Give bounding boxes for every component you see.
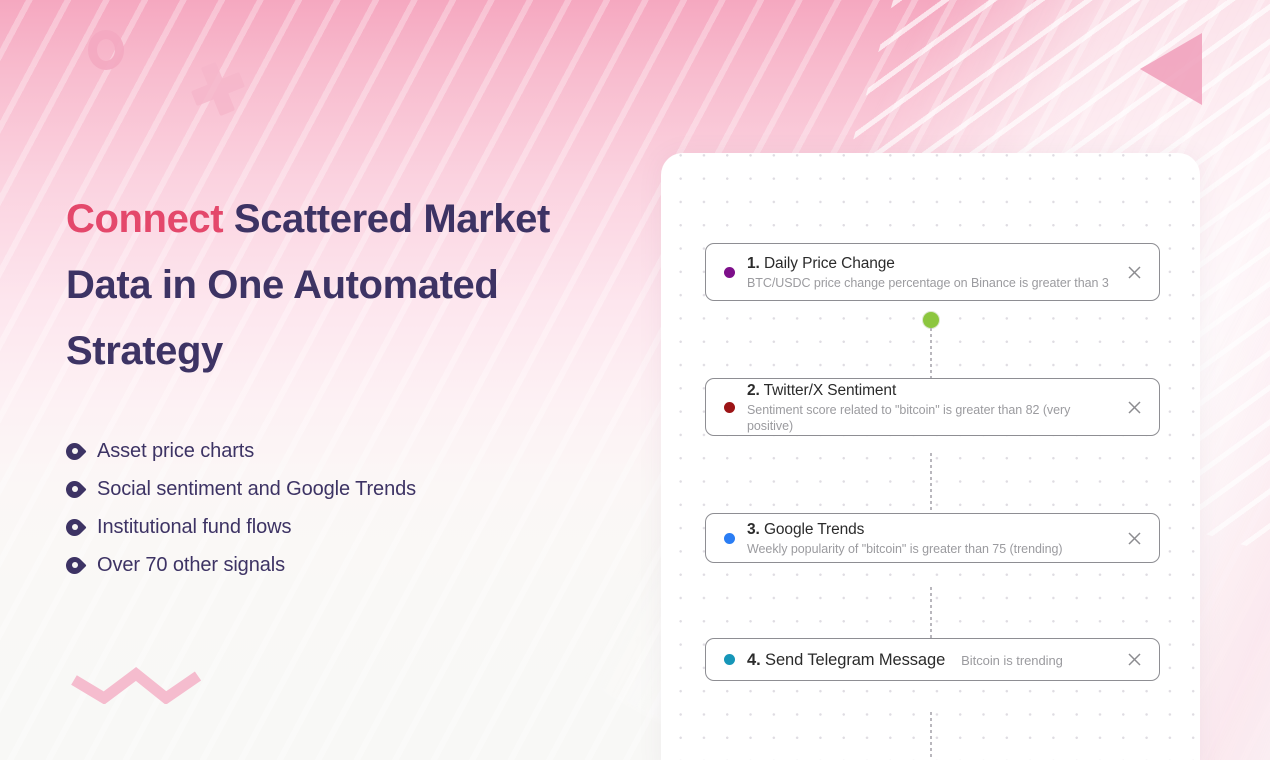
start-node-dot[interactable] bbox=[923, 312, 939, 328]
triangle-icon bbox=[1140, 33, 1202, 105]
pin-bullet-icon bbox=[66, 557, 83, 574]
step-status-dot bbox=[724, 533, 735, 544]
step-subtitle: BTC/USDC price change percentage on Bina… bbox=[747, 275, 1111, 291]
feature-label: Asset price charts bbox=[97, 440, 254, 463]
step-number: 3. bbox=[747, 521, 760, 538]
list-item: Institutional fund flows bbox=[66, 508, 626, 546]
workflow-step-card[interactable]: 4. Send Telegram Message Bitcoin is tren… bbox=[705, 638, 1160, 681]
step-title: 2. Twitter/X Sentiment bbox=[747, 381, 1111, 401]
connector-1-to-2 bbox=[930, 453, 932, 511]
page-title: Connect Scattered Market Data in One Aut… bbox=[66, 186, 626, 384]
workflow-step-card[interactable]: 1. Daily Price Change BTC/USDC price cha… bbox=[705, 243, 1160, 301]
connector-3-to-4 bbox=[930, 712, 932, 760]
workflow-panel: 1. Daily Price Change BTC/USDC price cha… bbox=[661, 153, 1200, 760]
list-item: Social sentiment and Google Trends bbox=[66, 470, 626, 508]
step-title: 3. Google Trends bbox=[747, 520, 1111, 540]
step-number: 1. bbox=[747, 255, 760, 272]
list-item: Over 70 other signals bbox=[66, 546, 626, 584]
feature-label: Over 70 other signals bbox=[97, 554, 285, 577]
close-icon[interactable] bbox=[1121, 525, 1147, 551]
hero-copy: Connect Scattered Market Data in One Aut… bbox=[66, 186, 626, 584]
step-name: Send Telegram Message bbox=[765, 651, 945, 669]
step-name: Twitter/X Sentiment bbox=[764, 382, 896, 399]
step-name: Daily Price Change bbox=[764, 255, 895, 272]
step-number: 2. bbox=[747, 382, 760, 399]
feature-list: Asset price charts Social sentiment and … bbox=[66, 432, 626, 584]
pin-bullet-icon bbox=[66, 519, 83, 536]
step-status-dot bbox=[724, 654, 735, 665]
step-name: Google Trends bbox=[764, 521, 864, 538]
feature-label: Institutional fund flows bbox=[97, 516, 291, 539]
workflow-step-card[interactable]: 3. Google Trends Weekly popularity of "b… bbox=[705, 513, 1160, 563]
zigzag-icon bbox=[70, 662, 210, 704]
step-title: 1. Daily Price Change bbox=[747, 254, 1111, 274]
close-icon[interactable] bbox=[1121, 259, 1147, 285]
workflow-canvas[interactable]: 1. Daily Price Change BTC/USDC price cha… bbox=[661, 153, 1200, 760]
step-status-dot bbox=[724, 267, 735, 278]
step-status-dot bbox=[724, 402, 735, 413]
ring-icon bbox=[88, 30, 124, 70]
step-subtitle: Bitcoin is trending bbox=[961, 653, 1063, 669]
workflow-step-card[interactable]: 2. Twitter/X Sentiment Sentiment score r… bbox=[705, 378, 1160, 436]
pin-bullet-icon bbox=[66, 443, 83, 460]
step-subtitle: Weekly popularity of "bitcoin" is greate… bbox=[747, 541, 1111, 557]
step-title: 4. Send Telegram Message bbox=[747, 650, 945, 670]
feature-label: Social sentiment and Google Trends bbox=[97, 478, 416, 501]
step-number: 4. bbox=[747, 651, 761, 669]
close-icon[interactable] bbox=[1121, 647, 1147, 673]
step-subtitle: Sentiment score related to "bitcoin" is … bbox=[747, 402, 1111, 434]
list-item: Asset price charts bbox=[66, 432, 626, 470]
pin-bullet-icon bbox=[66, 481, 83, 498]
close-icon[interactable] bbox=[1121, 394, 1147, 420]
headline-accent: Connect bbox=[66, 197, 223, 241]
